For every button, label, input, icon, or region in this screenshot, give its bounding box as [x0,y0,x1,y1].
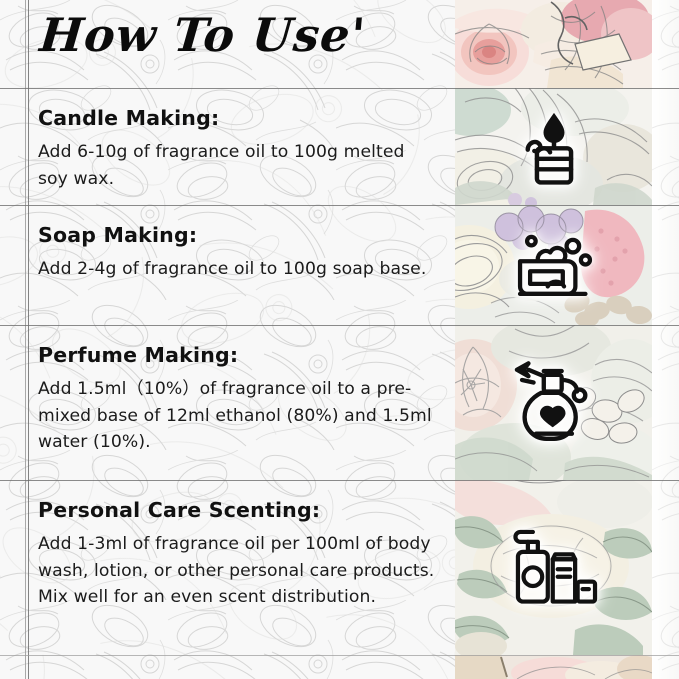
section-perfume-making: Perfume Making: Add 1.5ml（10%）of fragran… [0,325,455,480]
section-body-soap: Add 2-4g of fragrance oil to 100g soap b… [38,256,428,283]
art-band-blossoms [455,325,652,480]
section-heading-soap: Soap Making: [38,223,447,247]
section-candle-making: Candle Making: Add 6-10g of fragrance oi… [0,88,455,205]
title-row: How To Use' [0,0,455,88]
section-heading-perfume: Perfume Making: [38,343,447,367]
section-personal-care: Personal Care Scenting: Add 1-3ml of fra… [0,480,455,655]
section-body-candle: Add 6-10g of fragrance oil to 100g melte… [38,139,428,192]
section-body-personal-care: Add 1-3ml of fragrance oil per 100ml of … [38,531,438,611]
divider-after-personal-care [0,655,679,656]
section-soap-making: Soap Making: Add 2-4g of fragrance oil t… [0,205,455,325]
floral-illustration-strip [455,0,652,679]
art-band-blooms [455,88,652,205]
section-body-perfume: Add 1.5ml（10%）of fragrance oil to a pre-… [38,376,438,456]
art-band-leaves [455,480,652,655]
page-title: How To Use' [38,8,369,62]
section-heading-candle: Candle Making: [38,106,447,130]
how-to-use-infographic: How To Use' Candle Making: Add 6-10g of … [0,0,679,679]
art-band-bottom [455,655,652,679]
art-band-berries [455,205,652,325]
art-band-roses [455,0,652,88]
right-edge-fade [652,0,679,679]
section-heading-personal-care: Personal Care Scenting: [38,498,447,522]
